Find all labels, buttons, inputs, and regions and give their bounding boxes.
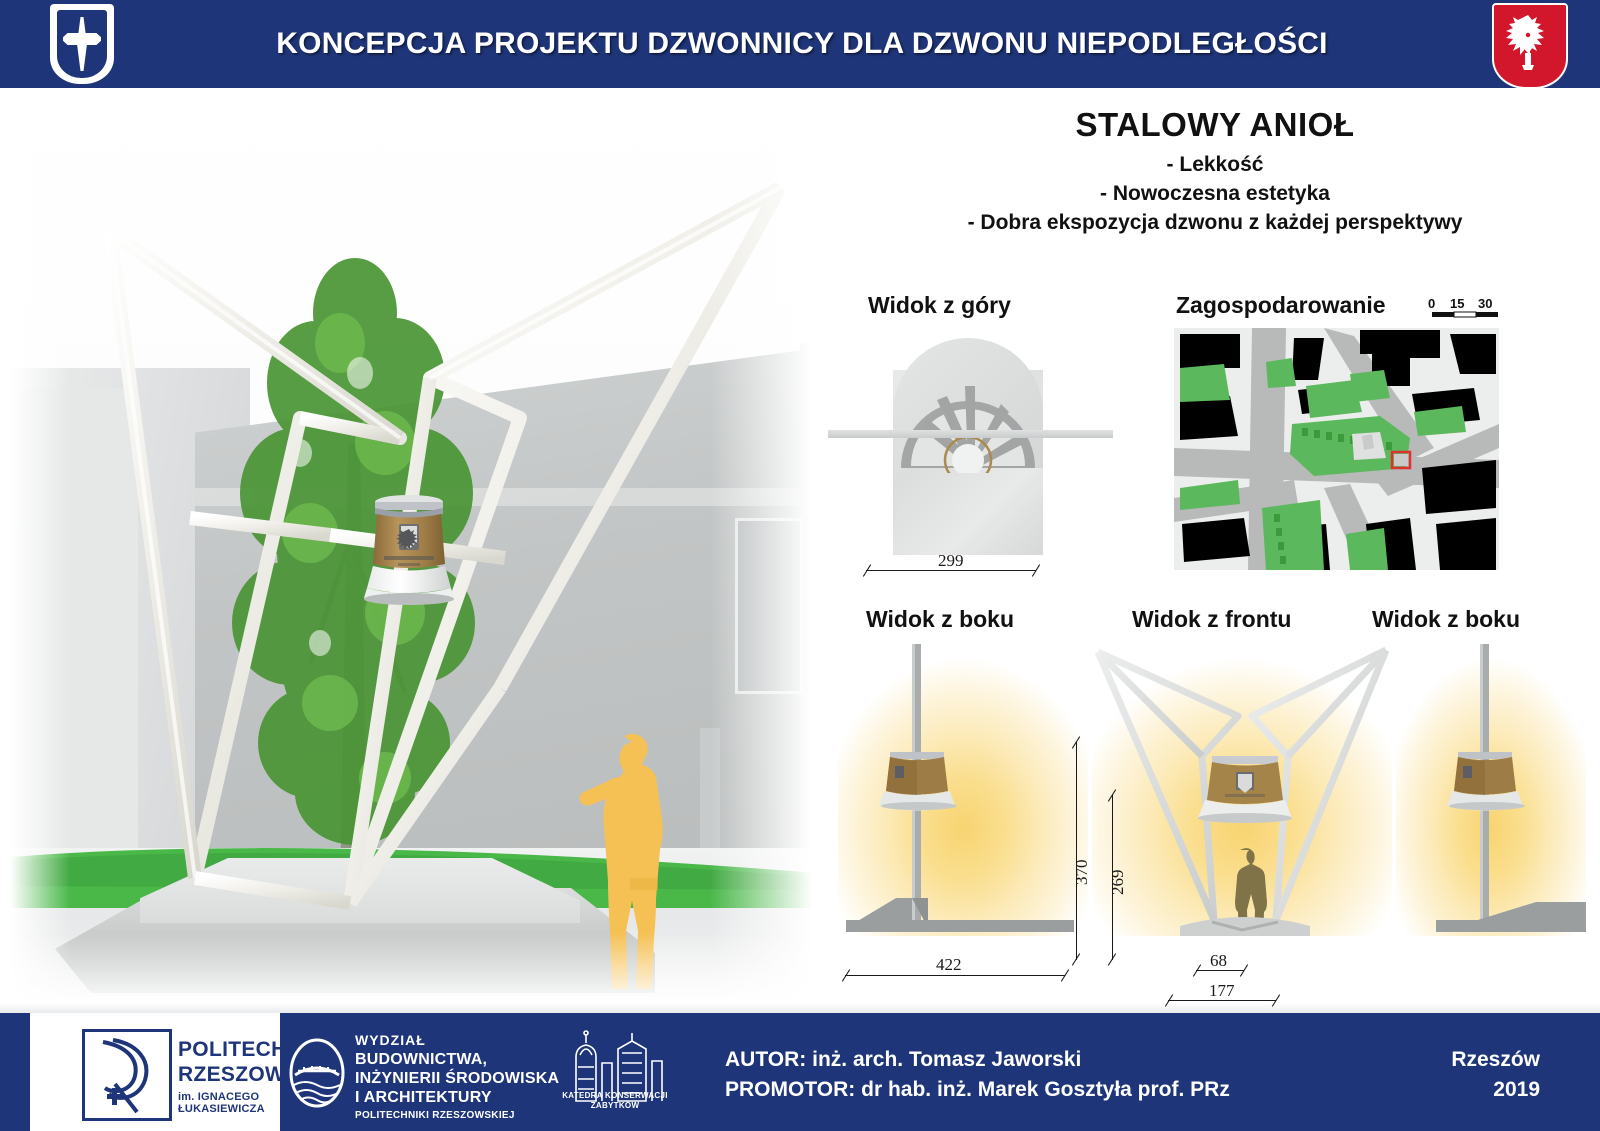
side-right-drawing [1396, 630, 1586, 950]
site-plan-graphic [1174, 328, 1499, 570]
site-plan-map [1174, 328, 1499, 570]
front-dim-inner-width: 68 [1210, 951, 1227, 971]
place-date-block: Rzeszów 2019 [1451, 1045, 1540, 1105]
concept-bullet-2: - Nowoczesna estetyka [830, 179, 1600, 208]
top-view-dimension: 299 [938, 551, 964, 571]
side-left-groundline [838, 936, 1088, 950]
render-fade-left [0, 88, 70, 1013]
render-fade-right [710, 88, 830, 1013]
render-fade-bottom [0, 933, 830, 1013]
university-logo-panel: POLITECHNIKA RZESZOWSKA im. IGNACEGO ŁUK… [30, 1013, 280, 1131]
author-line: AUTOR: inż. arch. Tomasz Jaworski [725, 1045, 1230, 1075]
year-label: 2019 [1451, 1075, 1540, 1105]
scale-tick-0: 0 [1428, 296, 1435, 311]
front-elevation [1092, 630, 1392, 950]
city-label: Rzeszów [1451, 1045, 1540, 1075]
department-line2: ZABYTKÓW [550, 1101, 680, 1111]
department-name: KATEDRA KONSERWACJI ZABYTKÓW [550, 1035, 680, 1111]
side-left-dimension: 422 [936, 955, 962, 975]
front-dim-bell-height: 269 [1108, 870, 1128, 896]
independence-bell [344, 484, 474, 614]
front-dim-base-width: 177 [1209, 981, 1235, 1001]
credits-block: AUTOR: inż. arch. Tomasz Jaworski PROMOT… [725, 1045, 1230, 1105]
concept-bullet-1: - Lekkość [830, 150, 1600, 179]
politechnika-monogram-icon [82, 1029, 172, 1121]
side-left-drawing [838, 630, 1088, 950]
front-elevation-drawing [1092, 630, 1392, 950]
faculty-line5: POLITECHNIKI RZESZOWSKIEJ [355, 1110, 645, 1121]
label-side-view-left: Widok z boku [866, 606, 1014, 633]
front-groundline [1092, 936, 1392, 950]
eagle-glyph [1498, 9, 1558, 77]
main-visualization [0, 88, 830, 1013]
top-view-frame-plan [893, 338, 1043, 473]
scale-tick-15: 15 [1450, 296, 1464, 311]
front-dim-total-height: 370 [1072, 860, 1092, 886]
dim-vline-370 [1076, 742, 1077, 960]
page-footer: POLITECHNIKA RZESZOWSKA im. IGNACEGO ŁUK… [0, 1013, 1600, 1131]
supervisor-line: PROMOTOR: dr hab. inż. Marek Gosztyła pr… [725, 1075, 1230, 1105]
side-right-groundline [1396, 936, 1586, 950]
side-left-dim-line [845, 975, 1065, 976]
concept-bullet-3: - Dobra ekspozycja dzwonu z każdej persp… [830, 208, 1600, 237]
label-front-view: Widok z frontu [1132, 606, 1291, 633]
polish-eagle-icon [1478, 0, 1578, 88]
top-view-drawing [873, 330, 1063, 560]
side-elevation-left [838, 630, 1088, 950]
concept-bullets: - Lekkość - Nowoczesna estetyka - Dobra … [830, 150, 1600, 237]
side-elevation-right [1396, 630, 1586, 950]
label-site-plan: Zagospodarowanie [1176, 292, 1386, 319]
concept-title: STALOWY ANIOŁ [830, 106, 1600, 144]
faculty-logo-icon [288, 1037, 346, 1109]
prz-monogram-glyph [85, 1032, 169, 1118]
page-title: KONCEPCJA PROJEKTU DZWONNICY DLA DZWONU … [126, 27, 1478, 61]
page-header: KONCEPCJA PROJEKTU DZWONNICY DLA DZWONU … [0, 0, 1600, 88]
department-line1: KATEDRA KONSERWACJI [550, 1091, 680, 1101]
rzeszow-coat-of-arms-icon [40, 0, 126, 88]
label-top-view: Widok z góry [868, 292, 1011, 319]
top-view-suspension-arm [828, 430, 1113, 438]
label-side-view-right: Widok z boku [1372, 606, 1520, 633]
scale-tick-30: 30 [1478, 296, 1492, 311]
